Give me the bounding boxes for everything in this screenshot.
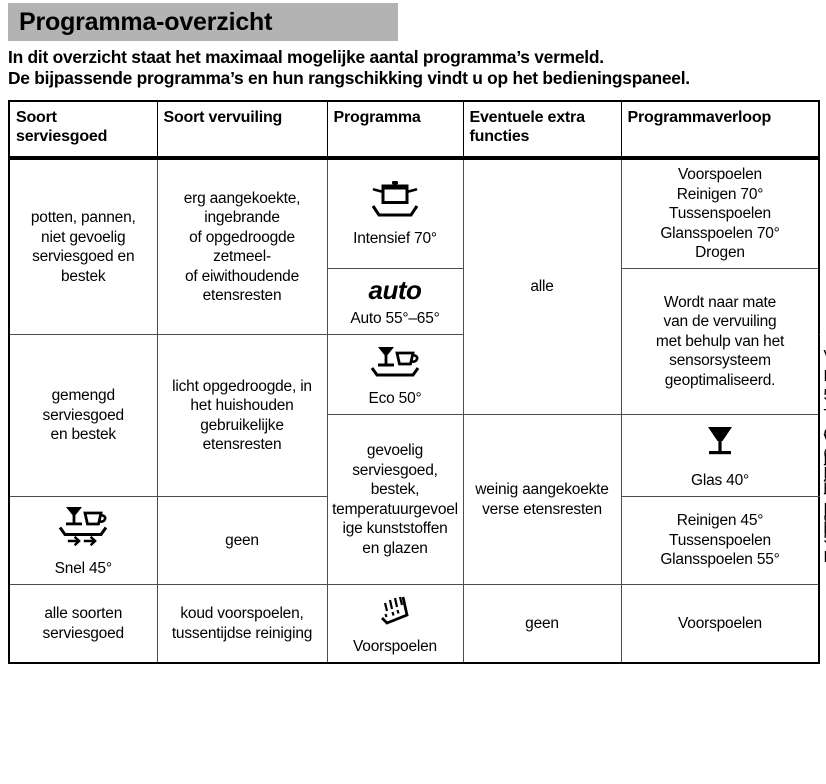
cell-dish-type-2: gemengd serviesgoed en bestek bbox=[9, 335, 157, 497]
cell-dish-type-1: potten, pannen, niet gevoelig serviesgoe… bbox=[9, 158, 157, 335]
page-title: Programma-overzicht bbox=[8, 8, 272, 37]
glass-cup-arrows-icon bbox=[54, 503, 112, 555]
cell-extra-functions-snel: geen bbox=[157, 497, 327, 585]
cell-programme-eco: Eco 50° bbox=[327, 335, 463, 415]
column-header-dish-type: Soort serviesgoed bbox=[9, 101, 157, 158]
prerinse-spray-icon bbox=[373, 591, 417, 633]
programme-overview-page: Programma-overzicht In dit overzicht sta… bbox=[0, 0, 826, 784]
table-row: alle soorten serviesgoed koud voorspoele… bbox=[9, 585, 819, 664]
cell-extra-functions-voorspoelen: geen bbox=[463, 585, 621, 664]
cell-soil-type-1: erg aangekoekte, ingebrande of opgedroog… bbox=[157, 158, 327, 335]
page-title-bar: Programma-overzicht bbox=[8, 3, 398, 41]
cell-soil-type-4: koud voorspoelen, tussentijdse reiniging bbox=[157, 585, 327, 664]
programme-label-glas: Glas 40° bbox=[691, 471, 749, 491]
column-header-soil-type: Soort vervuiling bbox=[157, 101, 327, 158]
cell-extra-functions-alle: alle bbox=[463, 158, 621, 415]
cell-soil-type-2: licht opgedroogde, in het huishouden geb… bbox=[157, 335, 327, 497]
cell-programme-auto: auto Auto 55°–65° bbox=[327, 268, 463, 335]
table-row: potten, pannen, niet gevoelig serviesgoe… bbox=[9, 158, 819, 268]
intro-paragraph: In dit overzicht staat het maximaal moge… bbox=[8, 47, 820, 89]
cell-sequence-snel: Reinigen 45° Tussenspoelen Glansspoelen … bbox=[621, 497, 819, 585]
table-header-row: Soort serviesgoed Soort vervuiling Progr… bbox=[9, 101, 819, 158]
column-header-programme: Programma bbox=[327, 101, 463, 158]
cell-programme-voorspoelen: Voorspoelen bbox=[327, 585, 463, 664]
cell-programme-intensief: Intensief 70° bbox=[327, 158, 463, 268]
cell-sequence-auto: Wordt naar mate van de vervuiling met be… bbox=[621, 268, 819, 415]
programme-label-auto: Auto 55°–65° bbox=[350, 309, 439, 329]
programme-label-voorspoelen: Voorspoelen bbox=[353, 637, 437, 657]
wine-glass-icon bbox=[698, 421, 742, 467]
intro-line-2: De bijpassende programma’s en hun rangsc… bbox=[8, 68, 820, 89]
intro-line-1: In dit overzicht staat het maximaal moge… bbox=[8, 47, 820, 68]
cell-sequence-voorspoelen: Voorspoelen bbox=[621, 585, 819, 664]
cell-dish-type-4: alle soorten serviesgoed bbox=[9, 585, 157, 664]
cell-dish-type-3: gevoelig serviesgoed, bestek, temperatuu… bbox=[327, 415, 463, 585]
programme-label-intensief: Intensief 70° bbox=[353, 229, 437, 249]
pot-in-basket-icon bbox=[366, 179, 424, 225]
cell-sequence-intensief: Voorspoelen Reinigen 70° Tussenspoelen G… bbox=[621, 158, 819, 268]
cell-soil-type-3: weinig aangekoekte verse etensresten bbox=[463, 415, 621, 585]
column-header-programme-sequence: Programmaverloop bbox=[621, 101, 819, 158]
column-header-extra-functions: Eventuele extra functies bbox=[463, 101, 621, 158]
programme-label-eco: Eco 50° bbox=[368, 389, 421, 409]
programme-table: Soort serviesgoed Soort vervuiling Progr… bbox=[8, 100, 820, 664]
cell-programme-glas: Glas 40° bbox=[621, 415, 819, 497]
programme-label-snel: Snel 45° bbox=[55, 559, 112, 579]
cell-programme-snel: Snel 45° bbox=[9, 497, 157, 585]
glass-cup-on-tray-icon bbox=[366, 341, 424, 385]
auto-text-icon: auto bbox=[369, 275, 422, 305]
